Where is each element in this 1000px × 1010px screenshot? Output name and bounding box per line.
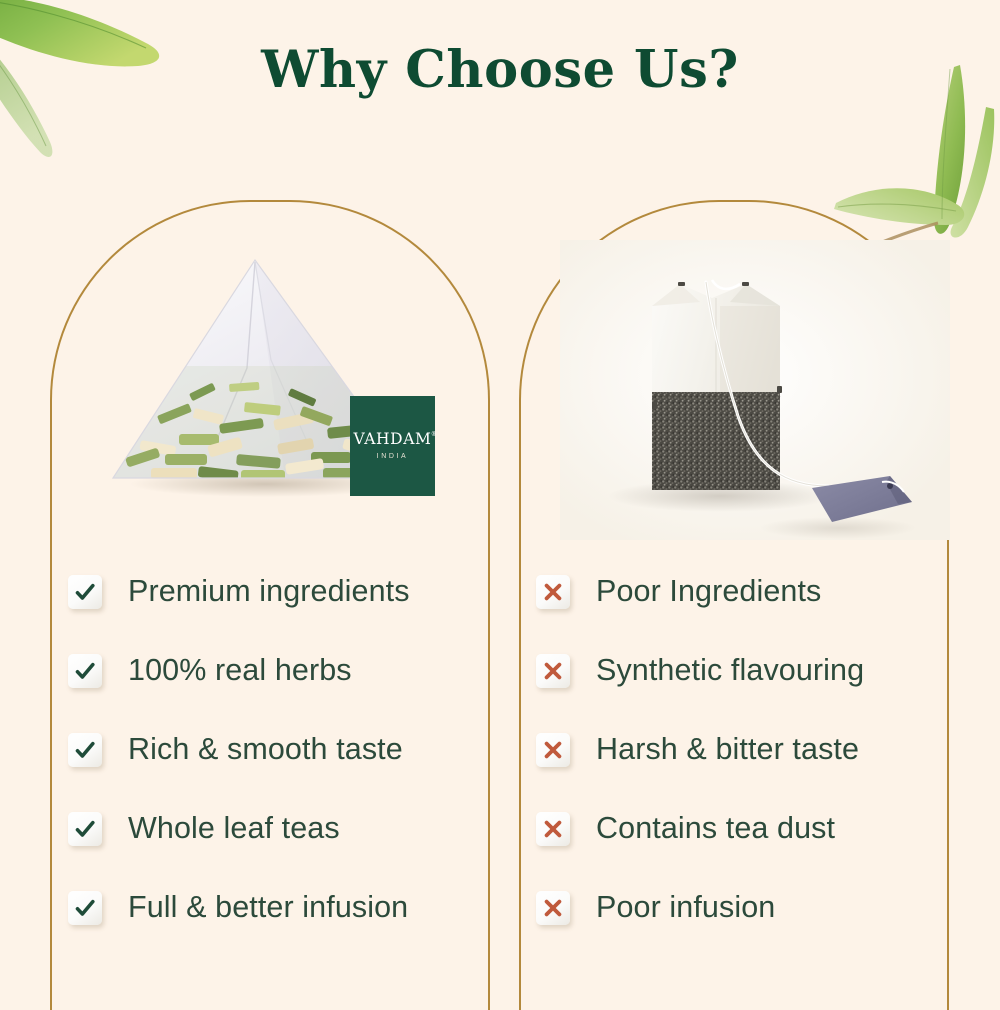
- vahdam-logo-subtext: INDIA: [377, 453, 409, 460]
- feature-label: Full & better infusion: [128, 890, 408, 925]
- ordinary-paper-tea-bag-image: [560, 240, 950, 540]
- check-icon: [68, 575, 102, 609]
- registered-mark: ®: [431, 432, 438, 438]
- cross-icon: [536, 891, 570, 925]
- check-icon: [68, 812, 102, 846]
- feature-row: Poor infusion: [536, 868, 956, 947]
- feature-row: Rich & smooth taste: [68, 710, 488, 789]
- feature-row: Contains tea dust: [536, 789, 956, 868]
- cross-icon: [536, 812, 570, 846]
- feature-label: Whole leaf teas: [128, 811, 340, 846]
- feature-row: Synthetic flavouring: [536, 631, 956, 710]
- feature-row: 100% real herbs: [68, 631, 488, 710]
- check-icon: [68, 733, 102, 767]
- vahdam-logo-word-text: VAHDAM: [354, 430, 432, 448]
- feature-row: Harsh & bitter taste: [536, 710, 956, 789]
- feature-label: Poor infusion: [596, 890, 775, 925]
- feature-label: Rich & smooth taste: [128, 732, 403, 767]
- feature-label: Contains tea dust: [596, 811, 835, 846]
- feature-row: Whole leaf teas: [68, 789, 488, 868]
- feature-list-others: Poor Ingredients Synthetic flavouring Ha…: [536, 552, 956, 947]
- check-icon: [68, 891, 102, 925]
- feature-label: 100% real herbs: [128, 653, 352, 688]
- feature-row: Full & better infusion: [68, 868, 488, 947]
- paper-teabag-graphic: [560, 240, 950, 540]
- vahdam-pyramid-tea-bag-image: VAHDAM® INDIA: [95, 248, 445, 510]
- cross-icon: [536, 733, 570, 767]
- check-icon: [68, 654, 102, 688]
- feature-list-vahdam: Premium ingredients 100% real herbs Rich…: [68, 552, 488, 947]
- feature-label: Premium ingredients: [128, 574, 410, 609]
- feature-row: Poor Ingredients: [536, 552, 956, 631]
- feature-label: Harsh & bitter taste: [596, 732, 859, 767]
- cross-icon: [536, 654, 570, 688]
- feature-label: Poor Ingredients: [596, 574, 821, 609]
- cross-icon: [536, 575, 570, 609]
- feature-label: Synthetic flavouring: [596, 653, 864, 688]
- page-title: Why Choose Us?: [0, 40, 1000, 100]
- vahdam-logo-wordmark: VAHDAM®: [354, 432, 432, 448]
- vahdam-logo: VAHDAM® INDIA: [350, 396, 435, 496]
- feature-row: Premium ingredients: [68, 552, 488, 631]
